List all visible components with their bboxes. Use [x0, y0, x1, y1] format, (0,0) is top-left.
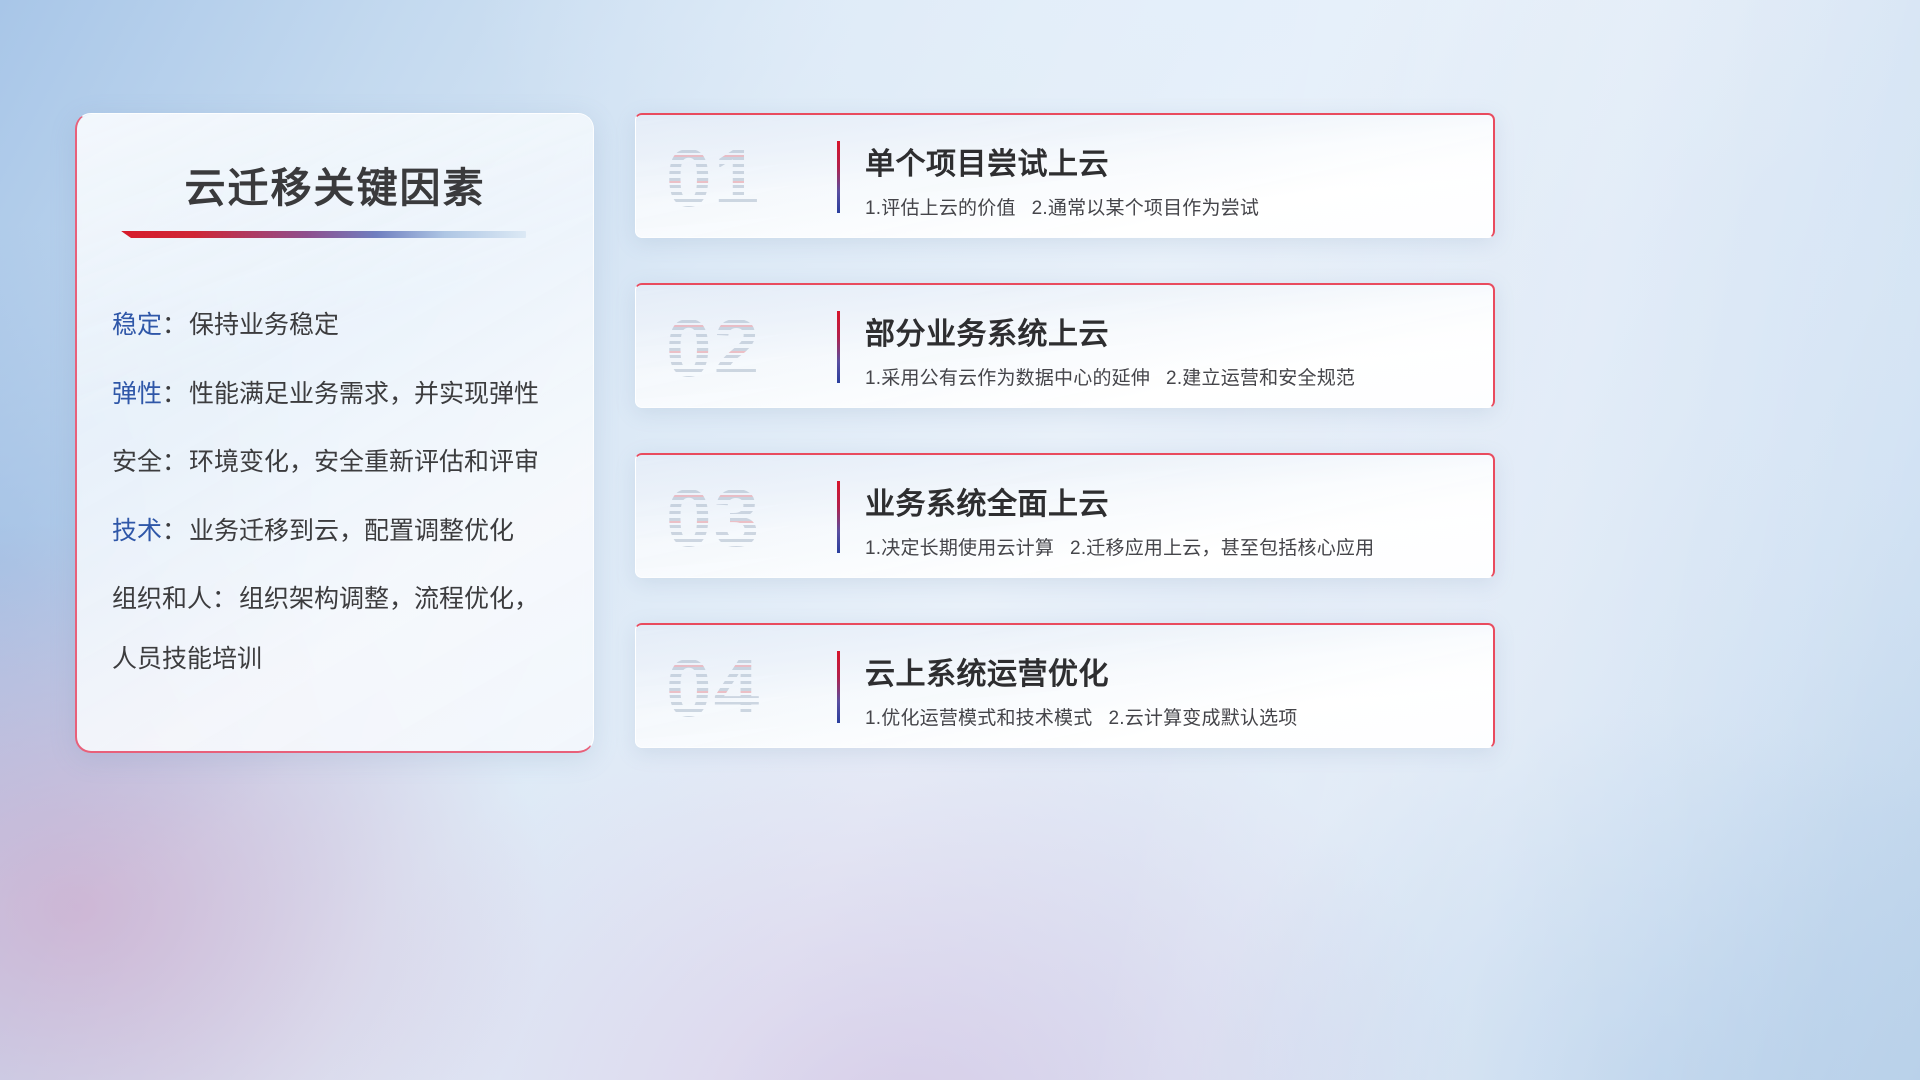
card-accent-divider: [837, 651, 840, 723]
card-title: 云上系统运营优化: [865, 649, 1109, 693]
factor-separator: ：: [162, 310, 187, 341]
stage-number-watermark: 04: [666, 639, 826, 739]
factor-label: 组织和人: [112, 584, 212, 615]
card-point: 1.采用公有云作为数据中心的延伸: [865, 368, 1150, 389]
card-point: 2.通常以某个项目作为尝试: [1032, 198, 1259, 219]
key-factors-panel: 云迁移关键因素 稳定：保持业务稳定弹性：性能满足业务需求，并实现弹性安全：环境变…: [75, 113, 594, 753]
factor-label: 技术: [112, 516, 162, 547]
stage-card[interactable]: 0404云上系统运营优化1.优化运营模式和技术模式2.云计算变成默认选项: [635, 623, 1495, 748]
card-points: 1.决定长期使用云计算2.迁移应用上云，甚至包括核心应用: [865, 533, 1374, 560]
card-point: 2.迁移应用上云，甚至包括核心应用: [1070, 538, 1374, 559]
card-points: 1.评估上云的价值2.通常以某个项目作为尝试: [865, 193, 1259, 220]
card-accent-divider: [837, 141, 840, 213]
stage-number-watermark: 01: [666, 129, 826, 229]
factor-separator: ：: [212, 584, 237, 615]
stage-number-watermark: 02: [666, 299, 826, 399]
factor-description: 组织架构调整，流程优化，: [239, 584, 539, 615]
factor-item: 组织和人：组织架构调整，流程优化，: [112, 584, 569, 615]
factor-separator: ：: [162, 447, 187, 478]
factor-item: 稳定：保持业务稳定: [112, 310, 569, 341]
factor-description: 保持业务稳定: [189, 310, 339, 341]
stage-card[interactable]: 0101单个项目尝试上云1.评估上云的价值2.通常以某个项目作为尝试: [635, 113, 1495, 238]
factor-label: 稳定: [112, 310, 162, 341]
card-points: 1.采用公有云作为数据中心的延伸2.建立运营和安全规范: [865, 363, 1355, 390]
stage-card[interactable]: 0303业务系统全面上云1.决定长期使用云计算2.迁移应用上云，甚至包括核心应用: [635, 453, 1495, 578]
card-point: 2.云计算变成默认选项: [1108, 708, 1297, 729]
factor-description: 环境变化，安全重新评估和评审: [189, 447, 539, 478]
cloud-migration-stage-cards: 0101单个项目尝试上云1.评估上云的价值2.通常以某个项目作为尝试0202部分…: [635, 113, 1495, 793]
card-accent-divider: [837, 311, 840, 383]
factor-item: 弹性：性能满足业务需求，并实现弹性: [112, 379, 569, 410]
title-underline-accent: [121, 231, 526, 238]
page-title: 云迁移关键因素: [77, 154, 593, 214]
factor-separator: ：: [162, 516, 187, 547]
factor-description: 业务迁移到云，配置调整优化: [189, 516, 514, 547]
factor-item: 安全：环境变化，安全重新评估和评审: [112, 447, 569, 478]
factor-list: 稳定：保持业务稳定弹性：性能满足业务需求，并实现弹性安全：环境变化，安全重新评估…: [112, 310, 569, 675]
card-title: 部分业务系统上云: [865, 309, 1109, 353]
card-accent-divider: [837, 481, 840, 553]
factor-separator: ：: [162, 379, 187, 410]
factor-label: 安全: [112, 447, 162, 478]
card-point: 1.优化运营模式和技术模式: [865, 708, 1092, 729]
factor-item: 技术：业务迁移到云，配置调整优化: [112, 516, 569, 547]
factor-description-continued: 人员技能培训: [112, 639, 569, 675]
card-point: 1.决定长期使用云计算: [865, 538, 1054, 559]
card-point: 2.建立运营和安全规范: [1166, 368, 1355, 389]
stage-card[interactable]: 0202部分业务系统上云1.采用公有云作为数据中心的延伸2.建立运营和安全规范: [635, 283, 1495, 408]
card-title: 单个项目尝试上云: [865, 139, 1109, 183]
card-title: 业务系统全面上云: [865, 479, 1109, 523]
factor-description: 性能满足业务需求，并实现弹性: [189, 379, 539, 410]
factor-label: 弹性: [112, 379, 162, 410]
card-points: 1.优化运营模式和技术模式2.云计算变成默认选项: [865, 703, 1298, 730]
card-point: 1.评估上云的价值: [865, 198, 1016, 219]
stage-number-watermark: 03: [666, 469, 826, 569]
